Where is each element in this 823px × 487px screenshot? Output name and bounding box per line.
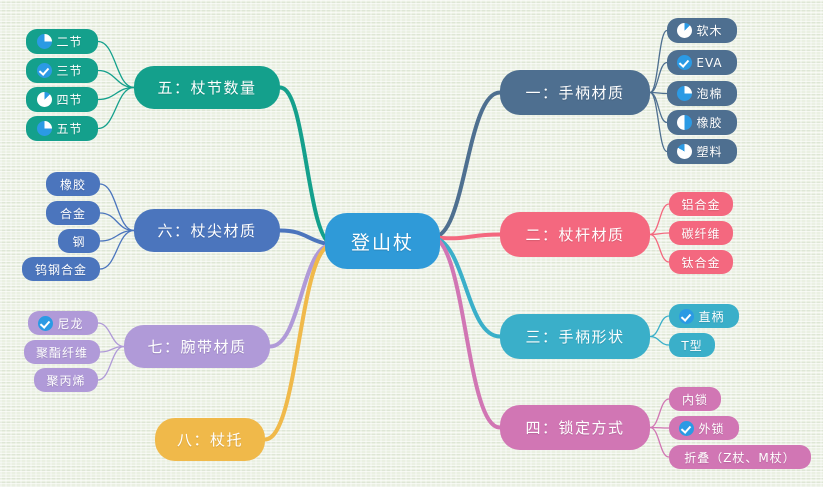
branch-6-leaf-2[interactable]: 钢 (58, 229, 100, 253)
branch-4-leaf-1-label: 外锁 (698, 420, 724, 437)
branch-7-label: 七：腕带材质 (147, 336, 246, 357)
branch-1-leaf-1[interactable]: EVA (667, 50, 737, 75)
branch-5-leaf-3-label: 五节 (56, 120, 82, 137)
branch-5-leaf-0[interactable]: 二节 (26, 29, 98, 54)
branch-6-leaf-2-label: 钢 (72, 233, 85, 250)
connector-line (650, 31, 667, 93)
branch-8[interactable]: 八：杖托 (155, 418, 265, 461)
pie-25-icon (677, 86, 692, 101)
branch-5-leaf-2[interactable]: 四节 (26, 87, 98, 112)
branch-4-leaf-0[interactable]: 内锁 (669, 387, 721, 411)
root-node[interactable]: 登山杖 (325, 213, 440, 269)
branch-2-leaf-0[interactable]: 铝合金 (669, 192, 733, 216)
check-icon (679, 309, 694, 324)
branch-7-leaf-1[interactable]: 聚酯纤维 (24, 340, 100, 364)
branch-1-leaf-3-label: 橡胶 (696, 114, 722, 131)
branch-3-label: 三：手柄形状 (525, 326, 624, 347)
pie-75-icon (677, 144, 692, 159)
branch-4-leaf-0-label: 内锁 (682, 391, 708, 408)
pie-25-icon (37, 121, 52, 136)
check-icon (677, 55, 692, 70)
check-icon (679, 421, 694, 436)
branch-4-label: 四：锁定方式 (525, 417, 624, 438)
branch-4-leaf-1[interactable]: 外锁 (669, 416, 739, 440)
branch-7-leaf-0[interactable]: 尼龙 (28, 311, 98, 335)
connector-line (98, 71, 134, 88)
branch-1-leaf-2[interactable]: 泡棉 (667, 81, 737, 106)
pie-50-icon (677, 115, 692, 130)
connector-line (650, 337, 669, 346)
branch-1-leaf-4[interactable]: 塑料 (667, 139, 737, 164)
check-icon (38, 316, 53, 331)
branch-1-label: 一：手柄材质 (525, 82, 624, 103)
branch-5[interactable]: 五：杖节数量 (134, 66, 280, 109)
branch-3-leaf-0-label: 直柄 (698, 308, 724, 325)
branch-7-leaf-1-label: 聚酯纤维 (36, 344, 88, 361)
pie-25-icon (37, 34, 52, 49)
connector-line (265, 245, 333, 440)
branch-4-leaf-2-label: 折叠（Z杖、M杖） (684, 449, 796, 466)
branch-2-leaf-1-label: 碳纤维 (681, 225, 720, 242)
pie-quarter-icon (677, 23, 692, 38)
connector-line (650, 399, 669, 428)
branch-6-leaf-3[interactable]: 钨钢合金 (22, 257, 100, 281)
root-node-label: 登山杖 (351, 228, 414, 255)
mindmap-canvas: 一：手柄材质软木EVA泡棉橡胶塑料二：杖杆材质铝合金碳纤维钛合金三：手柄形状直柄… (0, 0, 823, 487)
branch-3-leaf-0[interactable]: 直柄 (669, 304, 739, 328)
connector-line (650, 316, 669, 337)
connector-line (432, 237, 500, 337)
branch-2-leaf-0-label: 铝合金 (681, 196, 720, 213)
connector-line (650, 204, 669, 235)
branch-8-label: 八：杖托 (177, 429, 243, 450)
branch-1-leaf-4-label: 塑料 (696, 143, 722, 160)
branch-1-leaf-2-label: 泡棉 (696, 85, 722, 102)
branch-5-leaf-2-label: 四节 (56, 91, 82, 108)
branch-5-leaf-3[interactable]: 五节 (26, 116, 98, 141)
branch-4-leaf-2[interactable]: 折叠（Z杖、M杖） (669, 445, 811, 469)
branch-4[interactable]: 四：锁定方式 (500, 405, 650, 450)
connector-line (280, 88, 333, 246)
branch-5-leaf-0-label: 二节 (56, 33, 82, 50)
branch-2-label: 二：杖杆材质 (525, 224, 624, 245)
branch-7-leaf-0-label: 尼龙 (57, 315, 83, 332)
branch-6-label: 六：杖尖材质 (157, 220, 256, 241)
connector-line (650, 63, 667, 93)
connector-line (100, 184, 134, 231)
pie-quarter-icon (37, 92, 52, 107)
branch-1[interactable]: 一：手柄材质 (500, 70, 650, 115)
branch-7-leaf-2-label: 聚丙烯 (46, 372, 85, 389)
branch-1-leaf-0[interactable]: 软木 (667, 18, 737, 43)
branch-1-leaf-0-label: 软木 (696, 22, 722, 39)
branch-6[interactable]: 六：杖尖材质 (134, 209, 280, 252)
branch-6-leaf-1[interactable]: 合金 (46, 201, 100, 225)
connector-line (650, 235, 669, 263)
branch-1-leaf-3[interactable]: 橡胶 (667, 110, 737, 135)
branch-2[interactable]: 二：杖杆材质 (500, 212, 650, 257)
connector-line (98, 42, 134, 88)
connector-line (100, 213, 134, 231)
branch-2-leaf-2[interactable]: 钛合金 (669, 250, 733, 274)
branch-6-leaf-1-label: 合金 (60, 205, 86, 222)
branch-5-leaf-1[interactable]: 三节 (26, 58, 98, 83)
branch-7[interactable]: 七：腕带材质 (124, 325, 270, 368)
branch-6-leaf-3-label: 钨钢合金 (35, 261, 87, 278)
branch-6-leaf-0[interactable]: 橡胶 (46, 172, 100, 196)
branch-3[interactable]: 三：手柄形状 (500, 314, 650, 359)
branch-5-label: 五：杖节数量 (157, 77, 256, 98)
branch-7-leaf-2[interactable]: 聚丙烯 (34, 368, 98, 392)
connector-line (98, 323, 124, 347)
connector-line (650, 428, 669, 458)
branch-3-leaf-1-label: T型 (681, 337, 702, 354)
branch-2-leaf-1[interactable]: 碳纤维 (669, 221, 733, 245)
branch-2-leaf-2-label: 钛合金 (681, 254, 720, 271)
branch-6-leaf-0-label: 橡胶 (60, 176, 86, 193)
branch-5-leaf-1-label: 三节 (56, 62, 82, 79)
check-icon (37, 63, 52, 78)
branch-1-leaf-1-label: EVA (696, 56, 722, 70)
connector-line (432, 93, 500, 238)
branch-3-leaf-1[interactable]: T型 (669, 333, 715, 357)
